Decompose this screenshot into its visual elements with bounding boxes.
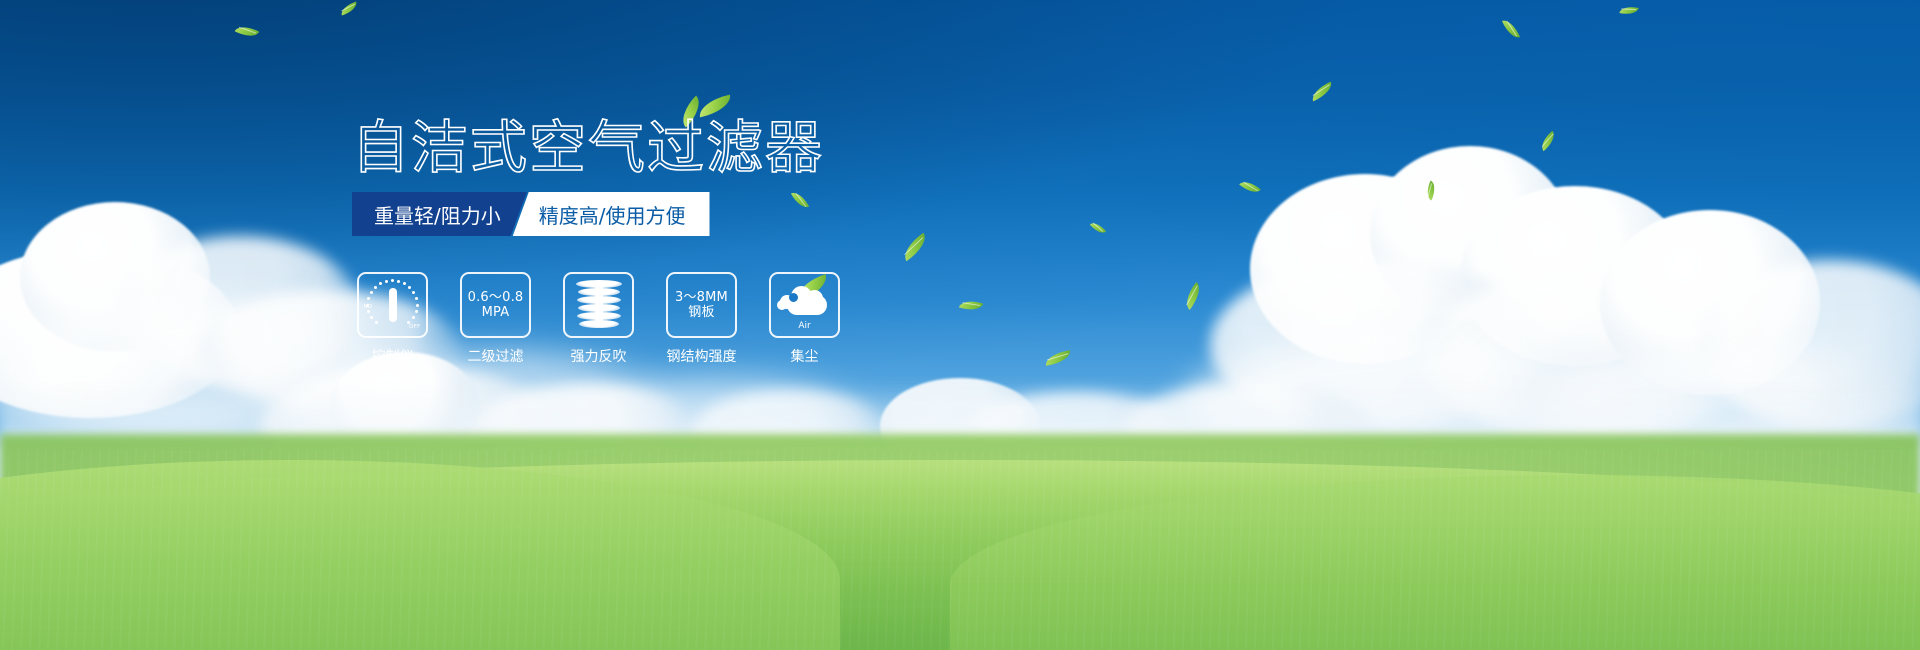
gauge-label-no: NO <box>364 304 373 310</box>
feature-item-steel-strength[interactable]: 3～8MM 钢板 钢结构强度 <box>665 272 738 366</box>
feature-box <box>563 272 634 338</box>
feature-caption: 二级过滤 <box>468 346 524 366</box>
banner-content: 自洁式空气过滤器 重量轻/阻力小 精度高/使用方便 <box>0 0 1920 650</box>
feature-box: Air <box>769 272 840 338</box>
leaf-icon <box>697 95 734 118</box>
gauge-needle <box>389 288 397 322</box>
banner-hero: 自洁式空气过滤器 重量轻/阻力小 精度高/使用方便 <box>0 0 1920 650</box>
feature-caption: 强力反吹 <box>571 346 627 366</box>
feature-caption: 控制仪 <box>372 346 414 366</box>
feature-box: 0.6～0.8 MPA <box>460 272 531 338</box>
pressure-text-icon: 0.6～0.8 MPA <box>468 290 524 320</box>
tag-precision-convenience[interactable]: 精度高/使用方便 <box>513 192 710 236</box>
feature-box: NO OFF <box>357 272 428 338</box>
gauge-label-off: OFF <box>409 324 421 330</box>
tag-weight-resistance[interactable]: 重量轻/阻力小 <box>352 192 527 236</box>
steel-material: 钢板 <box>675 305 728 320</box>
feature-item-dust-collection[interactable]: Air 集尘 <box>768 272 841 366</box>
page-title: 自洁式空气过滤器 <box>352 118 824 178</box>
steel-thickness: 3～8MM <box>675 290 728 305</box>
pressure-value: 0.6～0.8 <box>468 290 524 305</box>
feature-caption: 钢结构强度 <box>667 346 737 366</box>
stacked-discs-icon <box>576 280 622 330</box>
feature-box: 3～8MM 钢板 <box>666 272 737 338</box>
steel-plate-text-icon: 3～8MM 钢板 <box>675 290 728 320</box>
air-label: Air <box>777 321 833 331</box>
tag-group: 重量轻/阻力小 精度高/使用方便 <box>352 192 710 236</box>
feature-list: NO OFF 控制仪 0.6～0.8 MPA 二级过滤 <box>356 272 841 366</box>
feature-item-strong-blowback[interactable]: 强力反吹 <box>562 272 635 366</box>
feature-item-secondary-filter[interactable]: 0.6～0.8 MPA 二级过滤 <box>459 272 532 366</box>
feature-item-controller[interactable]: NO OFF 控制仪 <box>356 272 429 366</box>
pressure-unit: MPA <box>468 305 524 320</box>
cloud-air-icon: Air <box>777 281 833 329</box>
gauge-icon: NO OFF <box>365 279 421 331</box>
feature-caption: 集尘 <box>791 346 819 366</box>
